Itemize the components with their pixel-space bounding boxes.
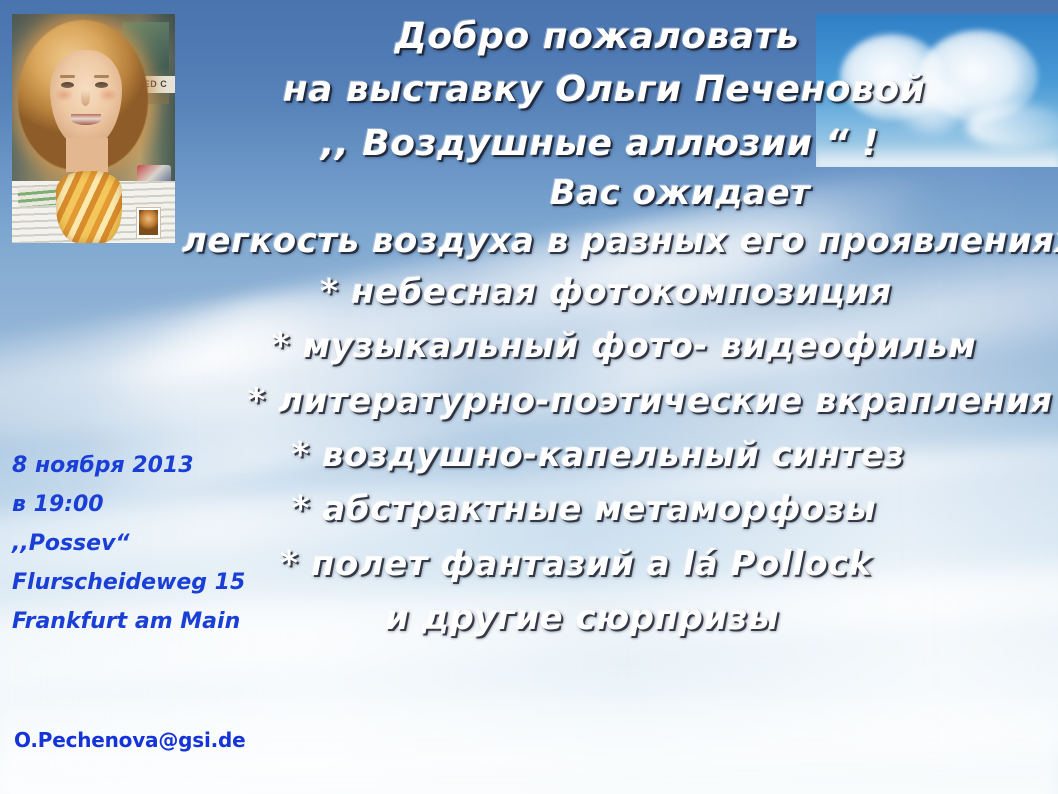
contact-email[interactable]: O.Pechenova@gsi.de: [14, 728, 246, 752]
artist-portrait-photo: NTED C: [12, 14, 175, 243]
intro-line-2: легкость воздуха в разных его проявления…: [182, 224, 1054, 259]
portrait-neck: [66, 138, 108, 172]
venue-street: Flurscheideweg 15: [12, 572, 312, 594]
portrait-mouth: [71, 114, 101, 125]
venue-name: ,,Possev“: [12, 533, 312, 555]
portrait-nose: [81, 90, 90, 106]
portrait-cheek-left: [54, 88, 74, 102]
intro-line-1: Вас ожидает: [244, 176, 1058, 211]
program-item-1: * небесная фотокомпозиция: [170, 275, 1042, 310]
program-item-3: * литературно-поэтические вкрапления: [214, 384, 1058, 419]
exhibition-invitation-poster: NTED C Добро пожаловать на выставку Ольг…: [0, 0, 1058, 794]
event-time: в 19:00: [12, 494, 312, 516]
venue-city: Frankfurt am Main: [12, 611, 312, 633]
exhibition-title: ,, Воздушные аллюзии “ !: [164, 125, 1036, 162]
portrait-small-photo-badge: [136, 207, 161, 239]
event-details-block: 8 ноября 2013 в 19:00 ,,Possev“ Flursche…: [12, 455, 312, 650]
welcome-line-2: на выставку Ольги Печеновой: [168, 71, 1040, 108]
portrait-cheek-right: [98, 88, 118, 102]
portrait-orange-scarf: [56, 171, 122, 243]
program-item-2: * музыкальный фото- видеофильм: [188, 329, 1058, 364]
event-date: 8 ноября 2013: [12, 455, 312, 477]
welcome-line-1: Добро пожаловать: [161, 18, 1033, 55]
portrait-eyebrow-right: [94, 75, 109, 78]
portrait-eyebrow-left: [60, 75, 75, 78]
